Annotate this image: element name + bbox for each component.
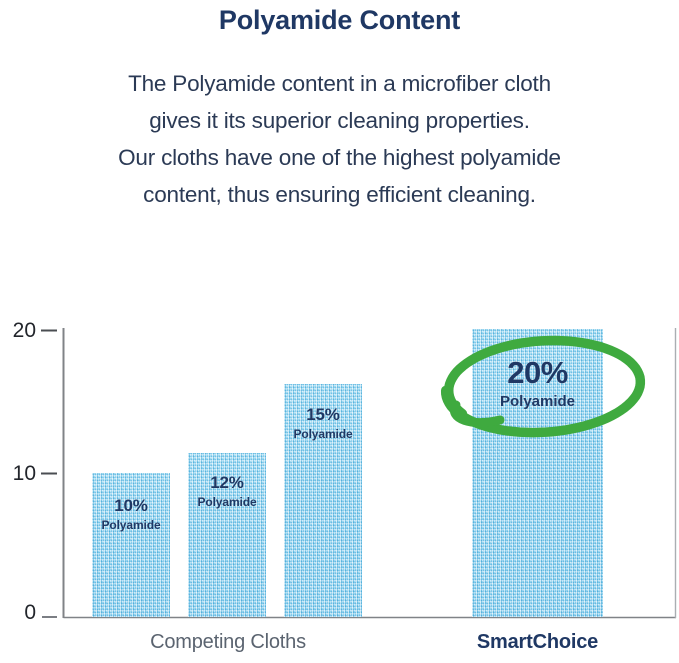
y-tick-label-10: 10 xyxy=(0,463,36,484)
bar-4-percent: 20% xyxy=(472,356,603,389)
bar-4-sublabel: Polyamide xyxy=(472,393,603,410)
y-tick-label-0: 0 xyxy=(0,602,36,623)
description-block: The Polyamide content in a microfiber cl… xyxy=(0,65,679,213)
bar-competing-3[interactable]: 15% Polyamide xyxy=(284,384,362,617)
bar-2-percent: 12% xyxy=(188,473,266,492)
description-line-2: gives it its superior cleaning propertie… xyxy=(0,102,679,139)
page-title: Polyamide Content xyxy=(0,3,679,37)
bar-smartchoice[interactable]: 20% Polyamide xyxy=(472,329,603,617)
bar-1-percent: 10% xyxy=(92,496,170,515)
bar-1-sublabel: Polyamide xyxy=(92,518,170,532)
description-line-3: Our cloths have one of the highest polya… xyxy=(0,139,679,176)
bar-chart: 20 10 0 10% Polyamide 12% Polyamide 15% … xyxy=(0,290,679,663)
header-block: Polyamide Content The Polyamide content … xyxy=(0,0,679,213)
bar-competing-1[interactable]: 10% Polyamide xyxy=(92,473,170,617)
bar-3-percent: 15% xyxy=(284,405,362,424)
x-axis-label-competing-cloths: Competing Cloths xyxy=(88,631,368,653)
bar-2-sublabel: Polyamide xyxy=(188,495,266,509)
x-axis-label-smartchoice: SmartChoice xyxy=(430,631,645,653)
y-tick-label-20: 20 xyxy=(0,320,36,341)
description-line-1: The Polyamide content in a microfiber cl… xyxy=(0,65,679,102)
description-line-4: content, thus ensuring efficient cleanin… xyxy=(0,176,679,213)
bar-3-sublabel: Polyamide xyxy=(284,427,362,441)
bar-competing-2[interactable]: 12% Polyamide xyxy=(188,453,266,617)
